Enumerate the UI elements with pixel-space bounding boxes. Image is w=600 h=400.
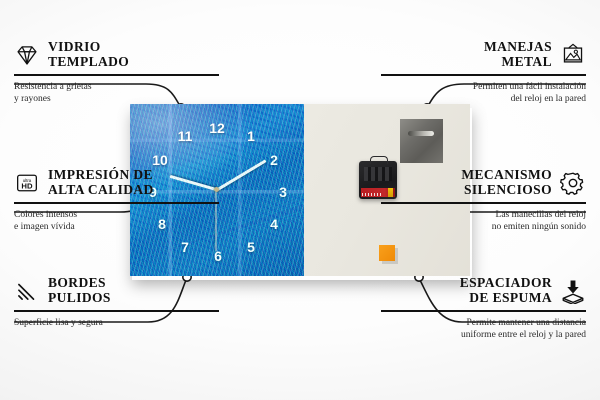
callout-title-line1: ESPACIADOR [381, 276, 552, 291]
clock-numeral-10: 10 [152, 152, 168, 168]
callout-foam-spacer: ESPACIADOR DE ESPUMA Permite mantener un… [381, 276, 586, 341]
callout-title-line1: MECANISMO [381, 168, 552, 183]
clock-numeral-2: 2 [266, 152, 282, 168]
callout-subtitle: Permiten una fácil instalación del reloj… [381, 81, 586, 105]
callout-subtitle-line2: e imagen vívida [14, 221, 219, 233]
callout-header: BORDES PULIDOS [14, 276, 219, 305]
callout-subtitle-line1: Permite mantener una distancia [381, 317, 586, 329]
callout-subtitle-line1: Las manecillas del reloj [381, 209, 586, 221]
foam-spacer-pad [379, 245, 395, 261]
callout-subtitle: Resistencia a grietas y rayones [14, 81, 219, 105]
gear-icon [560, 170, 586, 196]
callout-title-line2: ALTA CALIDAD [48, 183, 154, 198]
clock-numeral-1: 1 [243, 128, 259, 144]
polished-edges-icon [14, 278, 40, 304]
callout-header: MECANISMO SILENCIOSO [381, 168, 586, 197]
callout-title-line2: SILENCIOSO [381, 183, 552, 198]
callout-rule [381, 310, 586, 312]
callout-subtitle-line1: Colores intensos [14, 209, 219, 221]
foam-spacer-icon [560, 278, 586, 304]
callout-title-line1: BORDES [48, 276, 111, 291]
callout-title-line1: VIDRIO [48, 40, 129, 55]
infographic-canvas: 12 1 2 3 4 5 6 7 8 9 10 11 [0, 0, 600, 400]
callout-title-line2: DE ESPUMA [381, 291, 552, 306]
callout-tempered-glass: VIDRIO TEMPLADO Resistencia a grietas y … [14, 40, 219, 105]
callout-subtitle-line2: uniforme entre el reloj y la pared [381, 329, 586, 341]
callout-rule [381, 202, 586, 204]
clock-minute-hand [215, 159, 266, 191]
callout-subtitle: Permite mantener una distancia uniforme … [381, 317, 586, 341]
callout-rule [14, 74, 219, 76]
callout-title-line1: IMPRESIÓN DE [48, 168, 154, 183]
callout-metal-hangers: MANEJAS METAL Permiten una fácil instala… [381, 40, 586, 105]
svg-text:HD: HD [21, 181, 33, 190]
callout-subtitle: Colores intensos e imagen vívida [14, 209, 219, 233]
callout-subtitle-line2: del reloj en la pared [381, 93, 586, 105]
callout-silent-mechanism: MECANISMO SILENCIOSO Las manecillas del … [381, 168, 586, 233]
callout-subtitle-line1: Permiten una fácil instalación [381, 81, 586, 93]
callout-subtitle: Las manecillas del reloj no emiten ningú… [381, 209, 586, 233]
callout-header: VIDRIO TEMPLADO [14, 40, 219, 69]
callout-subtitle-line2: no emiten ningún sonido [381, 221, 586, 233]
callout-title-line2: METAL [381, 55, 552, 70]
clock-numeral-11: 11 [177, 128, 193, 144]
callout-title-line2: PULIDOS [48, 291, 111, 306]
callout-rule [14, 202, 219, 204]
callout-hd-print: ultra HD IMPRESIÓN DE ALTA CALIDAD Color… [14, 168, 219, 233]
mechanism-hang-tab [370, 156, 388, 164]
callout-rule [14, 310, 219, 312]
callout-subtitle-line1: Superficie lisa y segura [14, 317, 219, 329]
metal-hanger-plate [400, 119, 443, 163]
ultra-hd-icon: ultra HD [14, 170, 40, 196]
clock-numeral-4: 4 [266, 216, 282, 232]
callout-header: MANEJAS METAL [381, 40, 586, 69]
callout-title-line2: TEMPLADO [48, 55, 129, 70]
clock-numeral-3: 3 [275, 184, 291, 200]
clock-numeral-6: 6 [210, 248, 226, 264]
callout-header: ESPACIADOR DE ESPUMA [381, 276, 586, 305]
callout-title-line1: MANEJAS [381, 40, 552, 55]
hanger-keyhole-slot [408, 131, 434, 136]
clock-numeral-12: 12 [209, 120, 225, 136]
callout-subtitle-line2: y rayones [14, 93, 219, 105]
diamond-icon [14, 42, 40, 68]
mechanism-label-text [362, 193, 382, 196]
callout-subtitle: Superficie lisa y segura [14, 317, 219, 329]
clock-numeral-5: 5 [243, 239, 259, 255]
callout-polished-edges: BORDES PULIDOS Superficie lisa y segura [14, 276, 219, 329]
clock-numeral-7: 7 [177, 239, 193, 255]
callout-rule [381, 74, 586, 76]
callout-subtitle-line1: Resistencia a grietas [14, 81, 219, 93]
callout-header: ultra HD IMPRESIÓN DE ALTA CALIDAD [14, 168, 219, 197]
picture-hanger-icon [560, 42, 586, 68]
